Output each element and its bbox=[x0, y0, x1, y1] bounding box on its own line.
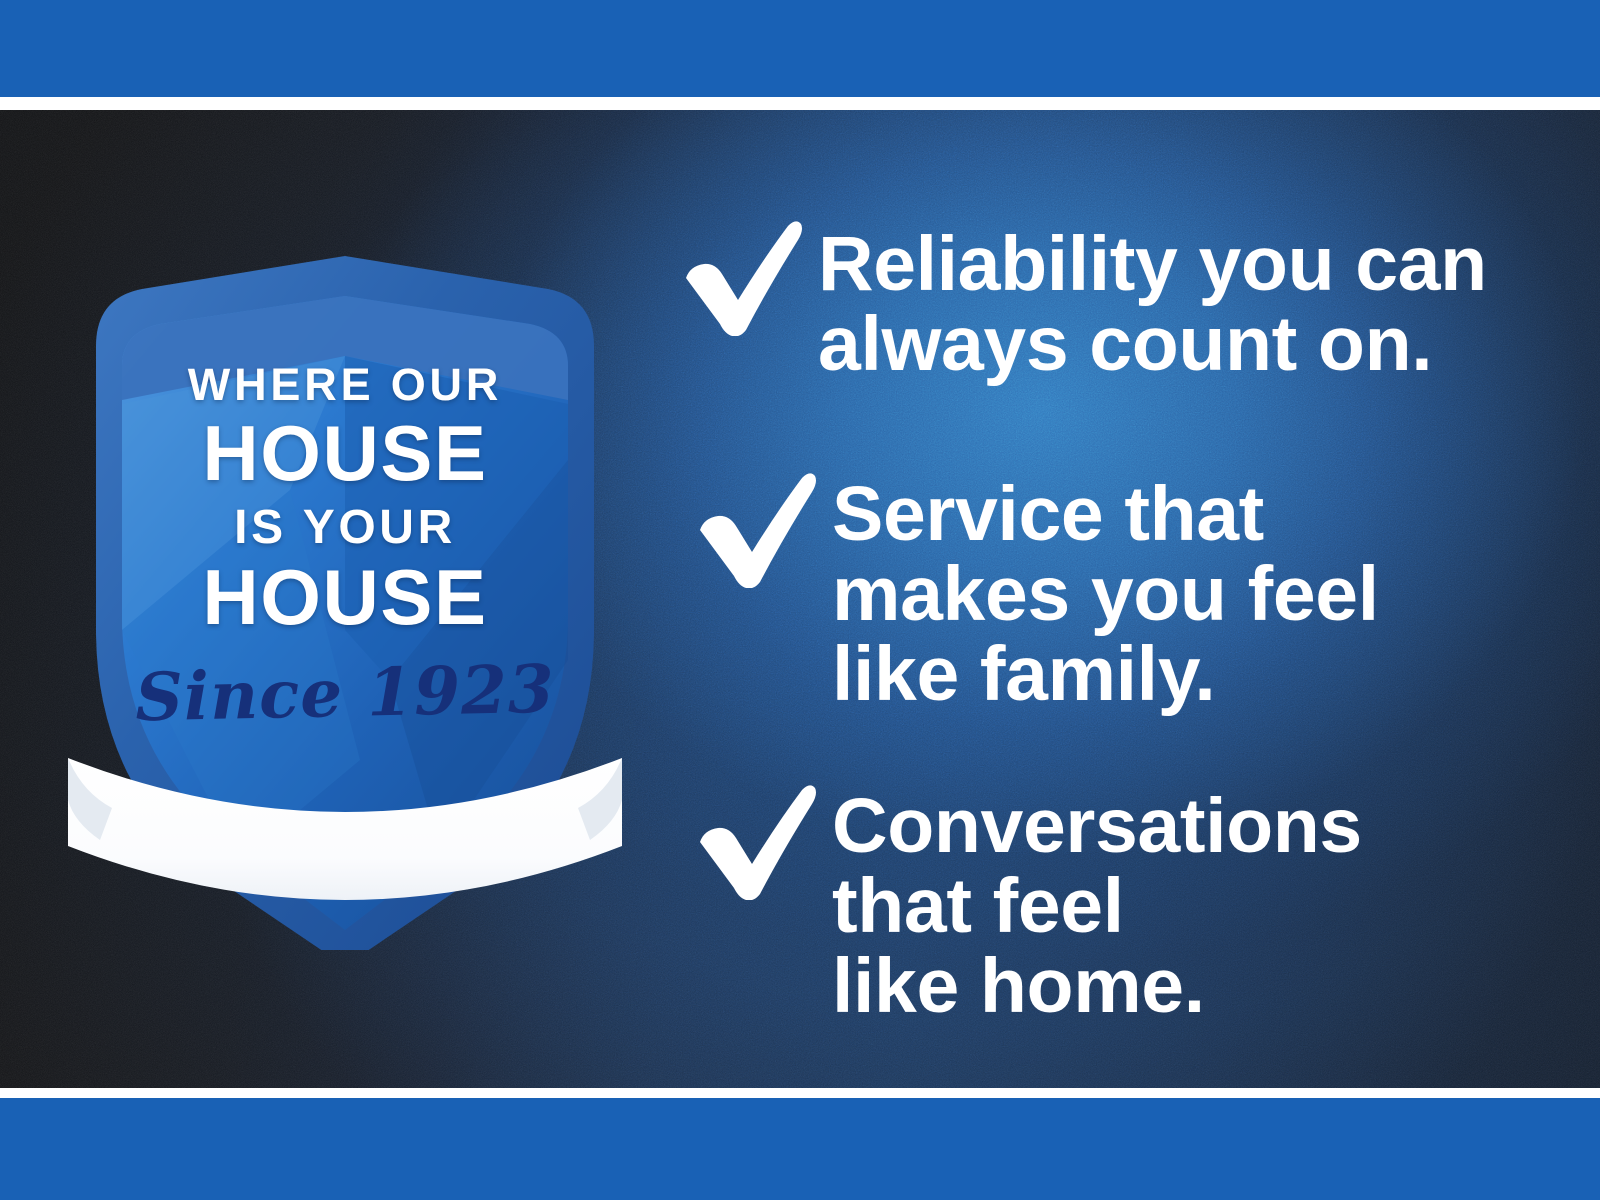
top-brand-bar bbox=[0, 0, 1600, 97]
benefit-item: Service that makes you feel like family. bbox=[672, 470, 1379, 714]
top-divider bbox=[0, 97, 1600, 110]
benefit-text: Service that makes you feel like family. bbox=[832, 470, 1379, 714]
benefits-list: Reliability you can always count on. Ser… bbox=[672, 110, 1572, 1088]
promo-graphic: WHERE OUR HOUSE IS YOUR HOUSE Since 1923… bbox=[0, 0, 1600, 1200]
checkmark-icon bbox=[686, 782, 816, 900]
checkmark-icon bbox=[672, 218, 802, 336]
benefit-text: Conversations that feel like home. bbox=[832, 782, 1362, 1026]
benefit-text: Reliability you can always count on. bbox=[818, 218, 1487, 384]
shield-graphic bbox=[60, 160, 630, 950]
bottom-brand-bar bbox=[0, 1098, 1600, 1200]
company-shield-emblem: WHERE OUR HOUSE IS YOUR HOUSE Since 1923 bbox=[60, 160, 630, 950]
checkmark-icon bbox=[686, 470, 816, 588]
bottom-divider bbox=[0, 1088, 1600, 1098]
benefit-item: Conversations that feel like home. bbox=[672, 782, 1362, 1026]
benefit-item: Reliability you can always count on. bbox=[672, 218, 1487, 384]
